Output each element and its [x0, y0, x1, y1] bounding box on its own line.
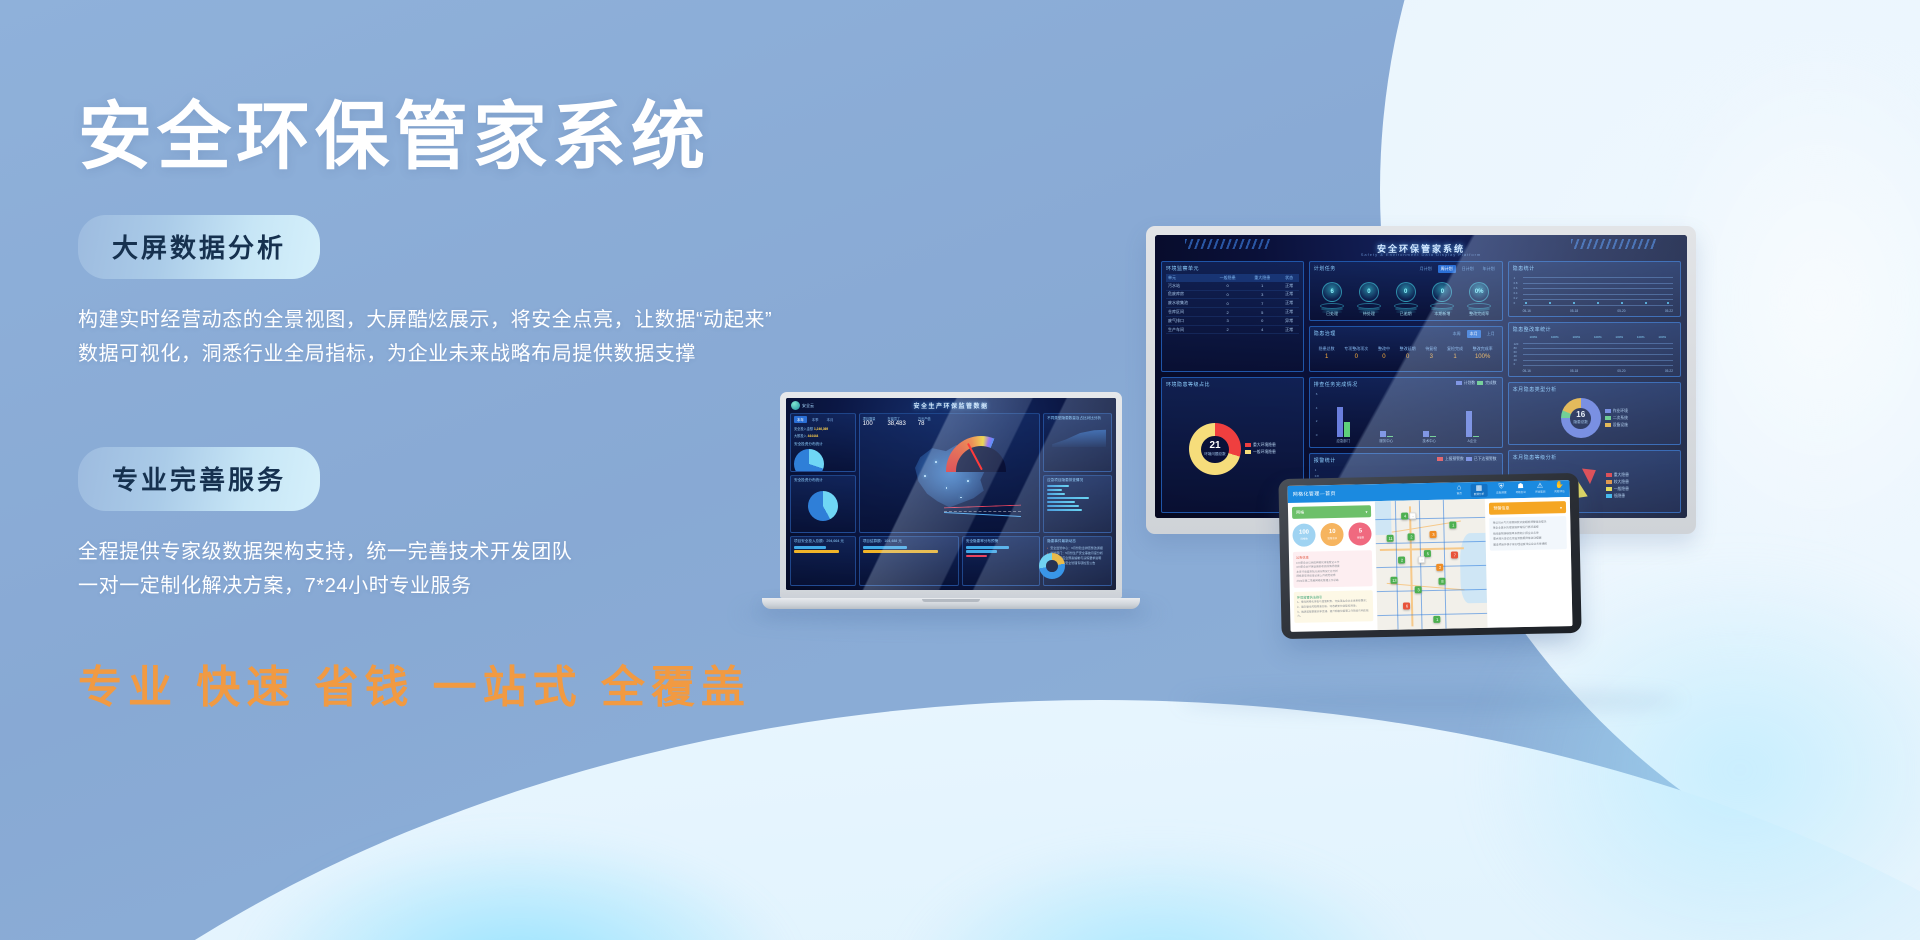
th-major: 重大隐患 [1245, 274, 1280, 282]
y-tick: 0.6 [1514, 286, 1518, 290]
x-tick: 05-16 [1523, 369, 1531, 373]
nav-item-home[interactable]: ⌂ 首页 [1456, 484, 1461, 497]
legend-label: 低隐患 [1614, 494, 1625, 498]
stat-label: 整改完成率 [1473, 346, 1493, 352]
tab-year[interactable]: 年计划 [1480, 265, 1498, 273]
bar-done [1344, 422, 1350, 437]
grid-map[interactable]: 4 11 2 3 1 2 5 2 7 13 3 8 6 1 · [1375, 499, 1488, 630]
cell-minor: 3 [1210, 316, 1245, 325]
rate-y-axis: 120 80 60 40 20 0 [1514, 342, 1519, 366]
cell-major: 4 [1245, 325, 1280, 334]
reference-line [944, 511, 1021, 512]
cell-minor: 0 [1210, 282, 1245, 290]
stat-item: 整改完成率100% [1473, 346, 1493, 360]
header-hatch-right [1571, 239, 1657, 249]
legend-item: 低隐患 [1606, 494, 1629, 499]
gauge-completion-rate: 0% 整改完成率 [1467, 282, 1491, 317]
legend-swatch [1606, 473, 1612, 477]
stat-item: 隐患总数1 [1319, 346, 1335, 360]
gridline-v [1443, 500, 1446, 629]
hbar [1047, 493, 1065, 495]
cell-minor: 2 [1210, 308, 1245, 317]
panel-safety-gauge [938, 432, 1024, 476]
cell-major: 0 [1245, 316, 1280, 325]
task-gauges: 6 已处理 0 待处理 [1314, 274, 1498, 317]
speed-gauge [946, 436, 1016, 472]
area-chart [1047, 423, 1108, 451]
bar-group: 应急部门 [1337, 407, 1350, 437]
bar [966, 550, 997, 553]
legend-swatch [1606, 480, 1612, 484]
map-marker[interactable]: 5 [1424, 550, 1431, 557]
legend-swatch [1606, 494, 1612, 498]
x-tick: 05-18 [1570, 309, 1578, 313]
gridline-h [1378, 613, 1488, 616]
donut-legend: 重大环境隐患 一般环境隐患 [1245, 443, 1276, 455]
line-points [1523, 303, 1673, 304]
map-label[interactable]: · [1409, 512, 1416, 519]
data-point [1597, 302, 1599, 304]
gauge-ring [1430, 303, 1454, 309]
legend-item: 重大隐患 [1606, 473, 1629, 478]
panel-title: 本月隐患等级分析 [1513, 454, 1676, 461]
point-label: 100% [1551, 335, 1559, 339]
map-marker[interactable]: 2 [1408, 533, 1415, 540]
panel-hbar: 应急项目隐患排查情况 [1043, 475, 1112, 534]
tab-this-week[interactable]: 本周 [1450, 330, 1464, 338]
bar-label: 应急部门 [1336, 438, 1350, 443]
paragraph-2-line-1: 全程提供专家级数据架构支持，统一完善技术开发团队 [78, 535, 898, 569]
stat-value: 100 [1299, 530, 1309, 536]
x-tick: 05-22 [1665, 369, 1673, 373]
gridline [1523, 277, 1673, 278]
gauge-label: 待处理 [1357, 311, 1381, 317]
legend-swatch [1456, 381, 1462, 385]
data-point [1573, 302, 1575, 304]
line-series-blue [944, 512, 1021, 517]
donut-value: 21 [1209, 441, 1220, 451]
data-point [1621, 302, 1623, 304]
legend-item: 重大环境隐患 [1245, 443, 1276, 448]
legend-label: 重大隐患 [1614, 473, 1629, 477]
cell-minor: 0 [1210, 290, 1245, 299]
tab-this-month[interactable]: 本月 [1467, 330, 1481, 338]
gauge-value: 0 [1359, 282, 1379, 302]
x-tick: 05-20 [1617, 369, 1625, 373]
x-tick: 05-18 [1570, 369, 1578, 373]
cell-major: 1 [1245, 282, 1280, 290]
cell-status: 正常 [1280, 325, 1299, 334]
legend-item: 较大隐患 [1606, 480, 1629, 485]
map-marker[interactable]: 11 [1387, 535, 1394, 542]
stat-value: 5 [1359, 528, 1362, 534]
bar-done [1430, 436, 1436, 437]
stat-item: 整改延期0 [1400, 346, 1416, 360]
legend-label: 上报预警数 [1445, 457, 1464, 461]
stat-item: 复检完成1 [1447, 346, 1463, 360]
dept-bar-chart: 64 20 应急部门 服务中心 [1314, 390, 1498, 444]
panel-line-rate: 隐患整改率统计 100% 100% 100% 100% 100% 100% [1508, 322, 1681, 378]
gauge-ring [1394, 303, 1418, 309]
nav-item-analytics[interactable]: ▦ 数据分析 [1471, 484, 1488, 497]
tasks-tabs[interactable]: 月计划 周计划 日计划 年计划 [1417, 265, 1498, 273]
stat-value: 1 [1447, 354, 1463, 360]
line-series-red [944, 505, 1021, 509]
tablet-device: 网格化管理—首页 ⌂ 首页 ▦ 数据分析 ⛨ 应急预案 [1278, 473, 1581, 639]
map-water [1460, 533, 1487, 604]
hbar [1047, 509, 1082, 511]
legend-item: 设备设施 [1605, 423, 1628, 428]
alert-line: 建设项目环保手续办理进度滞后企业名单通报 [1493, 541, 1564, 548]
point-label: 100% [1615, 335, 1623, 339]
chevron-down-icon: ▾ [1365, 509, 1367, 514]
legend-label: 已下达预警数 [1474, 457, 1497, 461]
table-row: 废气排口 3 0 异常 [1166, 316, 1299, 325]
y-tick: 4 [1316, 406, 1322, 410]
point-label: 100% [1658, 335, 1666, 339]
cell-name: 危废库房 [1166, 290, 1210, 299]
guide-line: 3、推进监管数据共享互通，提升网格化管理工作效能与响应能力。 [1297, 609, 1371, 620]
gauge-value: 6 [1322, 282, 1342, 302]
gauge-pending: 0 待处理 [1357, 282, 1381, 317]
bar-plan [1466, 411, 1472, 437]
th-unit: 单元 [1166, 274, 1210, 282]
y-tick: 0.4 [1514, 291, 1518, 295]
rectify-tabs[interactable]: 本周 本月 上月 [1450, 330, 1498, 338]
stat-item: 整改中0 [1378, 346, 1390, 360]
stat-circles: 100 网格数 10 监管企业 5 预警数 [1292, 522, 1372, 547]
stat-value: 1 [1319, 354, 1335, 360]
gridline [1523, 360, 1673, 361]
legend-item: 作业环境 [1605, 409, 1628, 414]
type-legend: 作业环境 二次系统 设备设施 [1605, 409, 1628, 428]
dashboard-subtitle: Safety & Environment Data Display Platfo… [1361, 252, 1481, 257]
legend-label: 计划数 [1464, 381, 1475, 385]
page-title: 安全环保管家系统 [78, 96, 898, 177]
nav-label: 考核办法 [1516, 490, 1526, 494]
hbar [1047, 505, 1079, 507]
tablet-nav[interactable]: ⌂ 首页 ▦ 数据分析 ⛨ 应急预案 ☗ 考核办 [1456, 482, 1564, 497]
panel-title: 不同类型隐患数量及占比对比分析 [1047, 416, 1108, 421]
monitor-shadow [1180, 690, 1680, 712]
donut-ring: 21 环境问题总数 [1189, 423, 1241, 475]
stat-item: 待复检3 [1425, 346, 1437, 360]
gauge-value: 0 [1432, 282, 1452, 302]
x-tick: 05-16 [1523, 309, 1531, 313]
x-tick: 05-20 [1617, 309, 1625, 313]
donut-label: 环境问题总数 [1204, 452, 1226, 457]
map-marker[interactable]: 1 [1434, 616, 1441, 623]
y-tick: 1 [1514, 276, 1518, 280]
gauge-label: 本期新增 [1430, 311, 1454, 317]
bar-group: A企业 [1466, 411, 1479, 437]
stat-value: 0 [1400, 354, 1416, 360]
legend-swatch [1437, 457, 1443, 461]
map-dot [924, 475, 926, 477]
y-tick: 0.8 [1315, 474, 1319, 478]
data-point [1525, 302, 1527, 304]
panel-rectify: 隐患治理 本周 本月 上月 隐患总数1 专项整改项次0 整改中0 [1309, 326, 1503, 372]
legend-label: 重大环境隐患 [1253, 443, 1276, 447]
legend-label: 完成数 [1485, 381, 1496, 385]
gridline [1523, 305, 1673, 306]
legend-label: 设备设施 [1613, 423, 1628, 427]
paragraph-service: 全程提供专家级数据架构支持，统一完善技术开发团队 一对一定制化解决方案，7*24… [78, 535, 898, 603]
legend-item: 上报预警数 [1437, 457, 1464, 462]
donut-label: 隐患总数 [1574, 420, 1588, 425]
dept-legend: 计划数 完成数 [1456, 381, 1497, 386]
alarm-legend: 上报预警数 已下达预警数 [1437, 457, 1497, 462]
y-tick: 1 [1315, 468, 1319, 472]
stat-label: 复检完成 [1447, 346, 1463, 352]
gridline-h [1376, 517, 1486, 520]
map-road [1380, 547, 1464, 550]
line-y-axis: 1 0.8 0.6 0.4 0.2 0 [1514, 276, 1518, 305]
legend-swatch [1466, 457, 1472, 461]
cell-name: 废气排口 [1166, 316, 1210, 325]
y-tick: 6 [1316, 392, 1322, 396]
map-marker[interactable]: 4 [1401, 512, 1408, 519]
map-label[interactable]: · [1418, 556, 1425, 563]
legend-label: 一般环境隐患 [1253, 450, 1276, 454]
panel-type-donut: 本月隐患类型分析 16 隐患总数 作业环 [1508, 382, 1681, 445]
bar-plan [1380, 431, 1386, 437]
paragraph-2-line-2: 一对一定制化解决方案，7*24小时专业服务 [78, 569, 898, 603]
legend-swatch [1605, 416, 1611, 420]
gauge-needle [967, 443, 982, 470]
gridline [1523, 288, 1673, 289]
paragraph-1-line-2: 数据可视化，洞悉行业全局指标，为企业未来战略布局提供数据支撑 [78, 337, 898, 371]
panel-tasks: 计划任务 月计划 周计划 日计划 年计划 6 [1309, 261, 1503, 321]
cell-minor: 2 [1210, 325, 1245, 334]
cell-status: 正常 [1280, 282, 1299, 290]
gauge-value: 0 [1396, 282, 1416, 302]
app-title: 网格化管理—首页 [1293, 490, 1336, 498]
line-x-axis: 05-16 05-18 05-20 05-22 [1523, 309, 1673, 313]
point-label: 100% [1572, 335, 1580, 339]
table-header-row: 单元 一般隐患 重大隐患 状态 [1166, 274, 1299, 282]
gridline [1523, 299, 1673, 300]
grid-selector[interactable]: 网格 ▾ [1292, 505, 1372, 519]
tablet-screen: 网格化管理—首页 ⌂ 首页 ▦ 数据分析 ⛨ 应急预案 [1288, 480, 1573, 632]
bar-group: 技术中心 [1423, 431, 1436, 437]
point-label: 100% [1594, 335, 1602, 339]
bar-label: 技术中心 [1422, 438, 1436, 443]
legend-label: 作业环境 [1613, 409, 1628, 413]
stat-label: 待复检 [1425, 346, 1437, 352]
laptop-trackpad-notch [922, 599, 980, 602]
stat-value: 10 [1329, 529, 1336, 535]
paragraph-data-analysis: 构建实时经营动态的全景视图，大屏酷炫展示，将安全点亮，让数据“动起来” 数据可视… [78, 303, 898, 371]
cell-status: 正常 [1280, 308, 1299, 317]
stat-label: 预警数 [1357, 535, 1364, 539]
bar-done [1473, 436, 1479, 437]
tablet-sidebar: 网格 ▾ 100 网格数 10 监管企业 [1288, 501, 1378, 632]
table-row: 仓库区间 2 5 正常 [1166, 308, 1299, 317]
panel-line-count: 隐患统计 1 0.8 0.6 0.4 0.2 0 [1508, 261, 1681, 317]
notice-title: 公告信息 [1296, 553, 1369, 560]
map-dot [935, 461, 937, 463]
donut-ring: 16 隐患总数 [1561, 398, 1601, 438]
stat-value: 0 [1378, 354, 1390, 360]
dashboard-header: 安全环保管家系统 Safety & Environment Data Displ… [1155, 235, 1687, 261]
legend-item: 一般隐患 [1606, 487, 1629, 492]
bar-done [1387, 436, 1393, 437]
hero-copy: 安全环保管家系统 大屏数据分析 构建实时经营动态的全景视图，大屏酷炫展示，将安全… [78, 96, 898, 715]
donut-center [1046, 560, 1057, 571]
type-donut-chart: 16 隐患总数 作业环境 二次系统 设备设施 [1513, 395, 1676, 441]
bar-label: A企业 [1468, 438, 1477, 443]
cell-status: 正常 [1280, 299, 1299, 308]
legend-swatch [1477, 381, 1483, 385]
cell-name: 污水站 [1166, 282, 1210, 290]
table-row: 废水收集池 0 7 正常 [1166, 299, 1299, 308]
donut-center: 21 环境问题总数 [1201, 436, 1228, 463]
selector-label: 网格 [1296, 510, 1304, 516]
map-marker[interactable]: 1 [1450, 521, 1457, 528]
panel-multiline [938, 484, 1024, 536]
gauge-ring [1467, 303, 1491, 309]
nav-item-emergency[interactable]: ⛨ 应急预案 [1496, 483, 1507, 496]
donut-value: 16 [1576, 411, 1585, 419]
tablet-body: 网格 ▾ 100 网格数 10 监管企业 [1288, 497, 1573, 632]
badge-professional-service: 专业完善服务 [78, 447, 320, 511]
area-fill [1052, 427, 1106, 447]
map-marker[interactable]: 13 [1391, 577, 1398, 584]
cell-status: 异常 [1280, 316, 1299, 325]
hbar [1047, 497, 1088, 499]
legend-item: 二次系统 [1605, 416, 1628, 421]
legend-item: 计划数 [1456, 381, 1475, 386]
map-marker[interactable]: 2 [1437, 564, 1444, 571]
notice-card: 公告信息 100家企业已完成网格化排查登记工作 100家企业环保设施验收完成情况… [1293, 550, 1373, 587]
alert-header[interactable]: 预警信息 ▾ [1489, 501, 1566, 515]
gauge-value: 0% [1469, 282, 1489, 302]
y-tick: 0 [1316, 433, 1322, 437]
gauge-overdue: 0 已逾期 [1394, 282, 1418, 317]
tab-week[interactable]: 周计划 [1438, 265, 1456, 273]
panel-unit-table: 环境监察单元 单元 一般隐患 重大隐患 状态 污水站 [1161, 261, 1304, 372]
stat-enterprise-count: 10 监管企业 [1320, 523, 1343, 546]
tab-day[interactable]: 日计划 [1459, 265, 1477, 273]
legend-swatch [1245, 443, 1251, 447]
data-point [1667, 302, 1669, 304]
map-marker[interactable]: 2 [1398, 557, 1405, 564]
legend-item: 一般环境隐患 [1245, 450, 1276, 455]
nav-item-risk[interactable]: ✋ 风险评估 [1554, 482, 1565, 495]
stat-item: 专项整改项次0 [1344, 346, 1368, 360]
legend-swatch [1605, 409, 1611, 413]
stat-label: 隐患总数 [1319, 346, 1335, 352]
map-marker[interactable]: 7 [1451, 551, 1458, 558]
map-marker[interactable]: 3 [1430, 531, 1437, 538]
table-row: 污水站 0 1 正常 [1166, 282, 1299, 290]
tablet-alert-panel: 预警信息 ▾ 某公司大气污染物排放浓度超标预警信息提示 某企业废水处理设施异常运… [1485, 497, 1572, 628]
header-hatch-left [1185, 239, 1271, 249]
map-marker[interactable]: 6 [1403, 602, 1410, 609]
nav-item-monitoring[interactable]: ⚠ 环境监测 [1535, 483, 1546, 496]
gridline-v [1395, 501, 1398, 630]
tab-last-month[interactable]: 上月 [1484, 330, 1498, 338]
gridline [1523, 294, 1673, 295]
donut-center: 16 隐患总数 [1570, 408, 1591, 429]
legend-swatch [1605, 423, 1611, 427]
hbar [1047, 485, 1069, 487]
bar-label: 服务中心 [1379, 438, 1393, 443]
legend-label: 二次系统 [1613, 416, 1628, 420]
gauge-label: 已逾期 [1394, 311, 1418, 317]
table-row: 危废库房 0 3 正常 [1166, 290, 1299, 299]
bar-group: 服务中心 [1380, 431, 1393, 437]
point-label: 100% [1637, 335, 1645, 339]
cell-major: 7 [1245, 299, 1280, 308]
rectify-headers: 隐患总数1 专项整改项次0 整改中0 整改延期0 待复检3 复检完成1 整改完成… [1314, 343, 1498, 360]
y-tick: 0 [1514, 362, 1519, 366]
panel-area-chart: 不同类型隐患数量及占比对比分析 [1043, 413, 1112, 472]
x-tick: 05-22 [1665, 309, 1673, 313]
gauge-handled: 6 已处理 [1320, 282, 1344, 317]
y-tick: 0 [1514, 301, 1518, 305]
guide-card: 环境监管执法指引 1、强化网格化排查与监管职责，切实落实企业主体责任要求； 2、… [1294, 590, 1374, 623]
table-row: 生产车间 2 4 正常 [1166, 325, 1299, 334]
nav-item-assessment[interactable]: ☗ 考核办法 [1515, 483, 1526, 496]
gridline [1523, 343, 1673, 344]
stat-alert-count: 5 预警数 [1349, 522, 1372, 545]
rate-x-axis: 05-16 05-18 05-20 05-22 [1523, 369, 1673, 373]
stat-value: 100% [1473, 354, 1493, 360]
map-marker[interactable]: 3 [1415, 586, 1422, 593]
donut-ring [1039, 553, 1065, 579]
legend-label: 较大隐患 [1614, 480, 1629, 484]
stat-label: 整改延期 [1400, 346, 1416, 352]
stat-label: 整改中 [1378, 346, 1390, 352]
cell-major: 5 [1245, 308, 1280, 317]
rate-point-labels: 100% 100% 100% 100% 100% 100% 100% [1523, 335, 1673, 339]
alert-list: 某公司大气污染物排放浓度超标预警信息提示 某企业废水处理设施异常运行情况通报 危… [1490, 516, 1567, 551]
panel-dept-bars: 排查任务完成情况 计划数 完成数 64 20 [1309, 377, 1503, 448]
panel-title: 隐患事件最新动态 [1047, 539, 1108, 544]
data-point [1549, 302, 1551, 304]
panel-title: 隐患整改率统计 [1513, 326, 1676, 333]
bar [966, 546, 1010, 549]
gridline-v [1419, 500, 1422, 629]
nav-label: 应急预案 [1496, 490, 1506, 494]
nav-label: 环境监测 [1535, 490, 1545, 494]
gauge-ring [1357, 303, 1381, 309]
gauge-ring [1320, 303, 1344, 309]
line-rate-chart: 100% 100% 100% 100% 100% 100% 100% [1513, 335, 1676, 374]
line-count-chart: 1 0.8 0.6 0.4 0.2 0 [1513, 274, 1676, 313]
paragraph-1-line-1: 构建实时经营动态的全景视图，大屏酷炫展示，将安全点亮，让数据“动起来” [78, 303, 898, 337]
cell-minor: 0 [1210, 299, 1245, 308]
bar [966, 555, 987, 558]
legend-item: 已下达预警数 [1466, 457, 1497, 462]
th-minor: 一般隐患 [1210, 274, 1245, 282]
stat-label: 专项整改项次 [1344, 346, 1368, 352]
tab-month[interactable]: 月计划 [1417, 265, 1435, 273]
badge-data-analysis: 大屏数据分析 [78, 215, 320, 279]
laptop-dashboard-title: 安全生产环保监管数据 [913, 401, 988, 410]
data-point [1645, 302, 1647, 304]
cell-major: 3 [1245, 290, 1280, 299]
gridline [1523, 348, 1673, 349]
cell-name: 废水收集池 [1166, 299, 1210, 308]
nav-label: 风险评估 [1554, 489, 1564, 493]
map-marker[interactable]: 8 [1439, 578, 1446, 585]
cell-status: 正常 [1280, 290, 1299, 299]
chevron-down-icon: ▾ [1560, 505, 1562, 510]
gauge-new: 0 本期新增 [1430, 282, 1454, 317]
